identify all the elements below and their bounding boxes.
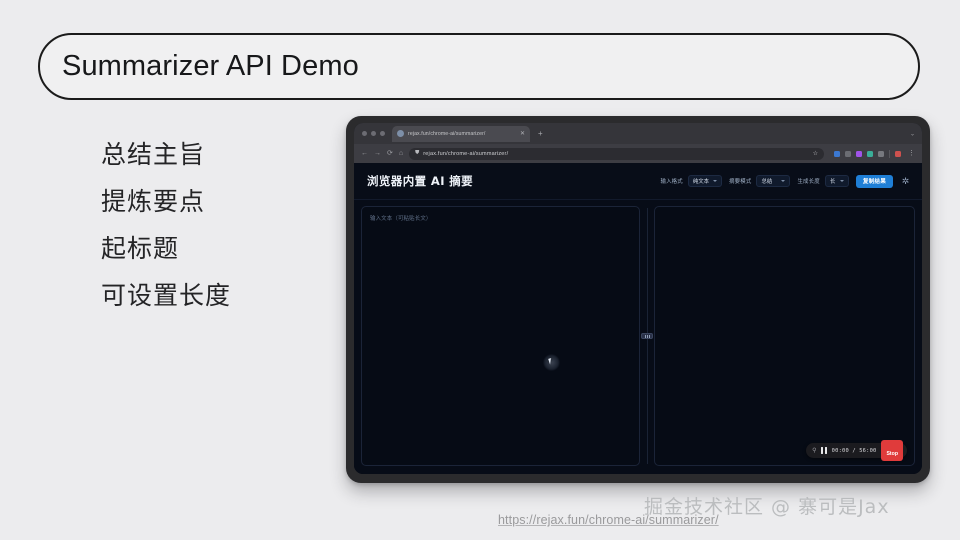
summary-mode-label: 摘要模式 bbox=[729, 177, 751, 185]
summary-mode-select[interactable]: 总结 bbox=[756, 175, 790, 187]
page-title-pill: Summarizer API Demo bbox=[38, 33, 920, 100]
input-format-value: 纯文本 bbox=[693, 177, 709, 185]
splitter-drag-handle[interactable] bbox=[641, 333, 653, 339]
app-title: 浏览器内置 AI 摘要 bbox=[367, 173, 473, 189]
mouse-cursor-icon bbox=[548, 357, 555, 364]
lock-icon: ⛊ bbox=[415, 151, 419, 157]
input-format-control: 输入格式 纯文本 bbox=[661, 175, 723, 187]
browser-menu-icon[interactable]: ⋮ bbox=[908, 150, 915, 157]
device-frame: rejax.fun/chrome-ai/summarizer/ ✕ + ⌄ ← … bbox=[346, 116, 930, 483]
chevron-down-icon bbox=[840, 180, 844, 182]
output-length-label: 生成长度 bbox=[797, 177, 819, 185]
microphone-icon[interactable]: ⚲ bbox=[812, 448, 816, 454]
reload-icon[interactable]: ⟳ bbox=[387, 150, 393, 157]
home-icon[interactable]: ⌂ bbox=[399, 150, 403, 157]
list-item: 提炼要点 bbox=[101, 187, 231, 217]
slide-root: Summarizer API Demo 总结主旨 提炼要点 起标题 可设置长度 … bbox=[0, 0, 960, 540]
list-item: 总结主旨 bbox=[101, 140, 231, 170]
input-pane[interactable]: 输入文本（可粘贴长文） bbox=[361, 206, 640, 466]
footer-url[interactable]: https://rejax.fun/chrome-ai/summarizer/ bbox=[498, 513, 719, 527]
bookmark-star-icon[interactable]: ☆ bbox=[813, 150, 818, 157]
summary-mode-value: 总结 bbox=[761, 177, 772, 185]
app-header: 浏览器内置 AI 摘要 输入格式 纯文本 摘要模式 bbox=[354, 163, 922, 200]
pause-icon[interactable] bbox=[821, 447, 826, 454]
recording-control-bar: ⚲ 00:00 / 56:00 Stop bbox=[806, 443, 907, 458]
input-format-select[interactable]: 纯文本 bbox=[688, 175, 722, 187]
address-bar[interactable]: ⛊ rejax.fun/chrome-ai/summarizer/ ☆ bbox=[409, 148, 824, 160]
chevron-down-icon bbox=[781, 180, 785, 182]
stop-button[interactable]: Stop bbox=[881, 440, 903, 461]
generate-button-label: 复制结果 bbox=[863, 177, 886, 185]
list-item: 可设置长度 bbox=[101, 281, 231, 311]
list-item: 起标题 bbox=[101, 234, 231, 264]
output-length-select[interactable]: 长 bbox=[825, 175, 849, 187]
app-toolbar: 输入格式 纯文本 摘要模式 总结 bbox=[661, 175, 912, 188]
extension-icons[interactable] bbox=[834, 150, 901, 158]
gear-icon[interactable]: ✲ bbox=[900, 176, 911, 187]
chevron-down-icon bbox=[713, 180, 717, 182]
output-length-value: 长 bbox=[830, 177, 835, 185]
forward-icon[interactable]: → bbox=[374, 150, 381, 157]
browser-tab[interactable]: rejax.fun/chrome-ai/summarizer/ ✕ bbox=[392, 126, 530, 142]
chevron-down-icon[interactable]: ⌄ bbox=[910, 130, 915, 137]
summary-mode-control: 摘要模式 总结 bbox=[729, 175, 790, 187]
close-icon[interactable]: ✕ bbox=[520, 131, 525, 137]
window-dots bbox=[362, 131, 385, 136]
page-title: Summarizer API Demo bbox=[62, 50, 359, 83]
output-pane[interactable]: ⚲ 00:00 / 56:00 Stop bbox=[654, 206, 915, 466]
stop-button-label: Stop bbox=[886, 451, 898, 457]
favicon-icon bbox=[397, 130, 404, 137]
browser-tabstrip: rejax.fun/chrome-ai/summarizer/ ✕ + ⌄ bbox=[354, 123, 922, 144]
editor-panes: 输入文本（可粘贴长文） ⚲ 00:00 / 56:00 bbox=[354, 200, 922, 474]
browser-window: rejax.fun/chrome-ai/summarizer/ ✕ + ⌄ ← … bbox=[354, 123, 922, 474]
tab-title: rejax.fun/chrome-ai/summarizer/ bbox=[408, 131, 516, 137]
generate-button[interactable]: 复制结果 bbox=[856, 175, 893, 188]
input-format-label: 输入格式 bbox=[661, 177, 683, 185]
new-tab-icon[interactable]: + bbox=[538, 130, 543, 138]
browser-toolbar: ← → ⟳ ⌂ ⛊ rejax.fun/chrome-ai/summarizer… bbox=[354, 144, 922, 163]
feature-list: 总结主旨 提炼要点 起标题 可设置长度 bbox=[101, 140, 231, 311]
recording-timer: 00:00 / 56:00 bbox=[832, 448, 877, 454]
back-icon[interactable]: ← bbox=[361, 150, 368, 157]
output-length-control: 生成长度 长 bbox=[797, 175, 848, 187]
web-app: 浏览器内置 AI 摘要 输入格式 纯文本 摘要模式 bbox=[354, 163, 922, 474]
address-bar-url: rejax.fun/chrome-ai/summarizer/ bbox=[423, 151, 508, 157]
pane-splitter[interactable] bbox=[640, 206, 654, 466]
input-placeholder: 输入文本（可粘贴长文） bbox=[370, 214, 432, 222]
